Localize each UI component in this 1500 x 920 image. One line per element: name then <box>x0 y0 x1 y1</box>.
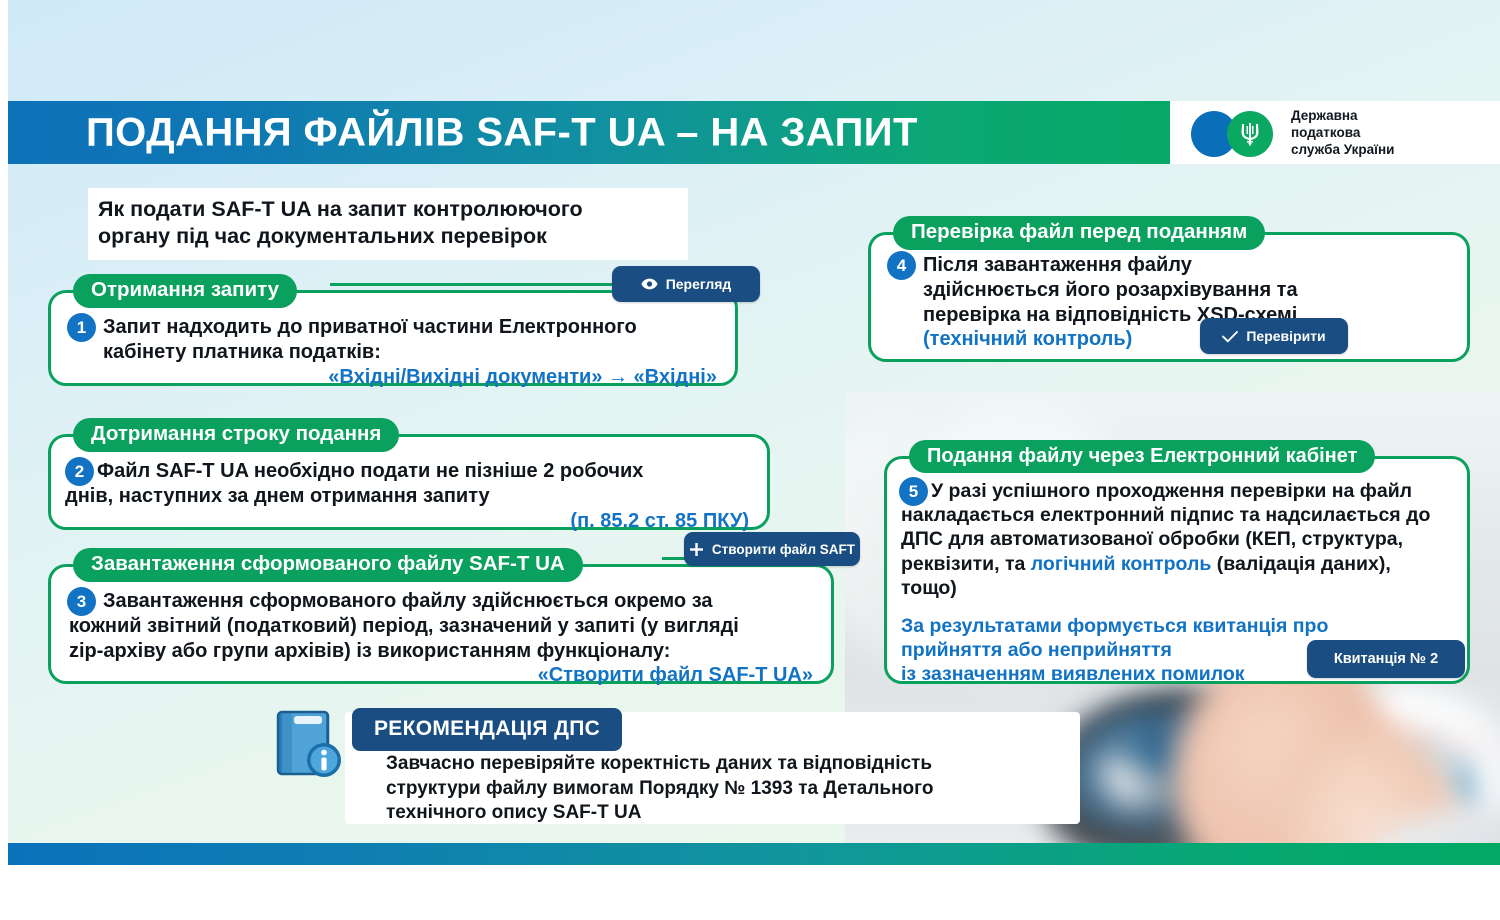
step-1-line-1: Запит надходить до приватної частини Еле… <box>103 315 717 340</box>
logo-text: Державна податкова служба України <box>1291 107 1394 159</box>
view-button[interactable]: Перегляд <box>612 266 760 302</box>
step-2-number: 2 <box>65 457 94 486</box>
recommendation-line-3: технічного опису SAF-T UA <box>386 801 1046 826</box>
step-1-number: 1 <box>67 313 96 342</box>
intro-box: Як подати SAF-T UA на запит контролюючог… <box>88 188 688 260</box>
step-2-body: 2 Файл SAF-T UA необхідно подати не пізн… <box>51 437 767 547</box>
step-1-line-2: кабінету платника податків: <box>103 340 717 365</box>
step-3-number: 3 <box>67 587 96 616</box>
receipt-button-label: Квитанція № 2 <box>1334 651 1438 667</box>
step-5-line-4-pre: реквізити, та <box>901 553 1031 575</box>
plus-icon <box>689 542 704 557</box>
step-1-body: 1 Запит надходить до приватної частини Е… <box>51 293 735 403</box>
step-1-highlight: «Вхідні/Вихідні документи» → «Вхідні» <box>103 365 717 390</box>
step-card-3: Завантаження сформованого файлу SAF-T UA… <box>48 564 834 684</box>
receipt-button[interactable]: Квитанція № 2 <box>1307 640 1465 678</box>
eye-icon <box>641 278 658 290</box>
step-3-body: 3 Завантаження сформованого файлу здійсн… <box>51 567 831 702</box>
step-3-line-2: кожний звітний (податковий) період, зазн… <box>69 614 813 639</box>
header-bar: ПОДАННЯ ФАЙЛІВ SAF-T UA – НА ЗАПИТ <box>8 101 1500 164</box>
step-5-line-4-highlight: логічний контроль <box>1031 553 1212 575</box>
step-2-highlight: (п. 85.2 ст. 85 ПКУ) <box>97 509 749 534</box>
step-3-heading: Завантаження сформованого файлу SAF-T UA <box>73 548 583 582</box>
step-5-line-4-post: (валідація даних), <box>1211 553 1390 575</box>
dps-logo: Державна податкова служба України <box>1183 101 1500 164</box>
checkmark-icon <box>1222 330 1238 343</box>
step-5-line-4: реквізити, та логічний контроль (валідац… <box>901 552 1453 576</box>
check-button[interactable]: Перевірити <box>1200 318 1348 354</box>
step-3-highlight: «Створити файл SAF-T UA» <box>103 663 813 688</box>
logo-line-2: податкова <box>1291 124 1394 141</box>
step-3-line-1: Завантаження сформованого файлу здійснює… <box>103 589 813 614</box>
intro-line-1: Як подати SAF-T UA на запит контролюючог… <box>98 196 676 223</box>
step-3-line-3: zip-архіву або групи архівів) із викорис… <box>69 639 813 664</box>
footer-bar <box>8 843 1500 865</box>
step-4-line-1: Після завантаження файлу <box>923 253 1449 278</box>
create-saft-file-label: Створити файл SAFT <box>712 542 855 557</box>
step-2-line-2: днів, наступних за днем отримання запиту <box>65 484 749 509</box>
logo-green-circle <box>1227 111 1273 157</box>
step-5-note-line-1: За результатами формується квитанція про <box>901 614 1453 638</box>
book-info-icon <box>270 704 348 786</box>
step-card-2: Дотримання строку подання 2 Файл SAF-T U… <box>48 434 770 530</box>
ukraine-trident-icon <box>1240 121 1260 147</box>
step-4-number: 4 <box>887 251 916 280</box>
step-4-line-3: перевірка на відповідність XSD-схемі <box>923 303 1449 328</box>
recommendation-line-2: структури файлу вимогам Порядку № 1393 т… <box>386 777 1046 802</box>
recommendation-line-1: Завчасно перевіряйте коректність даних т… <box>386 752 1046 777</box>
step-5-line-1: У разі успішного проходження перевірки н… <box>931 479 1453 503</box>
logo-line-1: Державна <box>1291 107 1394 124</box>
step-5-line-3: ДПС для автоматизованої обробки (КЕП, ст… <box>901 527 1453 551</box>
step-card-1: Отримання запиту 1 Запит надходить до пр… <box>48 290 738 386</box>
logo-line-3: служба України <box>1291 141 1394 158</box>
step-5-line-2: накладається електронний підпис та надси… <box>901 503 1453 527</box>
step-5-heading: Подання файлу через Електронний кабінет <box>909 440 1375 473</box>
step-4-line-2: здійснюється його розархівування та <box>923 278 1449 303</box>
connector-stub-step1 <box>330 283 620 286</box>
page-title: ПОДАННЯ ФАЙЛІВ SAF-T UA – НА ЗАПИТ <box>86 110 918 155</box>
step-5-line-5: тощо) <box>901 576 1453 600</box>
step-card-4: Перевірка файл перед поданням 4 Після за… <box>868 232 1470 362</box>
step-5-number: 5 <box>899 477 928 506</box>
recommendation-heading: РЕКОМЕНДАЦІЯ ДПС <box>352 708 622 751</box>
step-2-line-1: Файл SAF-T UA необхідно подати не пізніш… <box>97 459 749 484</box>
step-4-body: 4 Після завантаження файлу здійснюється … <box>871 235 1467 366</box>
step-1-heading: Отримання запиту <box>73 274 297 308</box>
view-button-label: Перегляд <box>666 276 732 292</box>
step-2-heading: Дотримання строку подання <box>73 418 399 452</box>
intro-line-2: органу під час документальних перевірок <box>98 223 676 250</box>
step-4-highlight: (технічний контроль) <box>923 327 1449 352</box>
logo-circles <box>1191 109 1283 157</box>
step-4-heading: Перевірка файл перед поданням <box>893 216 1265 250</box>
infographic-page: ПОДАННЯ ФАЙЛІВ SAF-T UA – НА ЗАПИТ <box>0 0 1500 920</box>
recommendation-text: Завчасно перевіряйте коректність даних т… <box>386 752 1046 826</box>
create-saft-file-button[interactable]: Створити файл SAFT <box>684 532 860 566</box>
check-button-label: Перевірити <box>1246 328 1325 344</box>
